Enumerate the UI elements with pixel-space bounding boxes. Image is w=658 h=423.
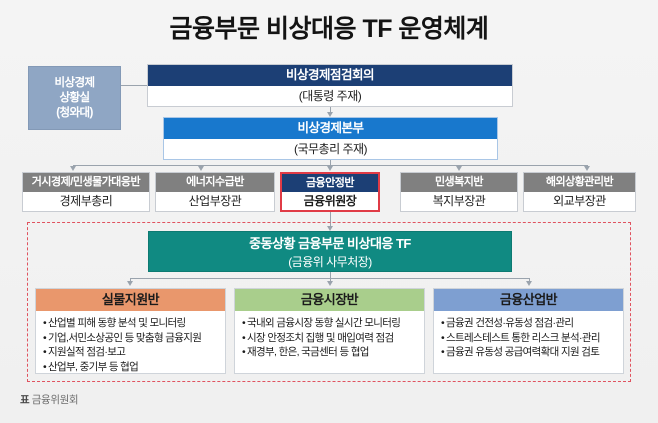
connector-situationroom-to-meeting	[121, 85, 147, 86]
node-division-energy-body: 산업부장관	[156, 192, 274, 211]
node-team-financial-industry-items: 금융권 건전성·유동성 점검·관리 스트레스테스트 통한 리스크 분석·관리 금…	[434, 311, 623, 364]
node-emergency-economy-hq: 비상경제본부 (국무총리 주재)	[163, 117, 498, 160]
source-caption-text: 금융위원회	[32, 394, 78, 406]
source-caption: 표 금융위원회	[20, 392, 320, 408]
node-middle-east-finance-tf-line2: (금융위 사무처장)	[149, 254, 511, 271]
node-team-real-economy-support-items: 산업별 피해 동향 분석 및 모니터링 기업,서민소상공인 등 맞춤형 금융지원…	[36, 311, 225, 378]
arrow-division-5-icon	[584, 166, 590, 171]
infographic-canvas: 금융부문 비상대응 TF 운영체계 비상경제 상황실 (청와대) 비상경제점검회…	[0, 0, 658, 423]
list-item: 기업,서민소상공인 등 맞춤형 금융지원	[43, 331, 220, 346]
node-division-overseas-header: 해외상황관리반	[524, 173, 635, 192]
node-division-macro-body: 경제부총리	[23, 192, 149, 211]
node-team-real-economy-support: 실물지원반 산업별 피해 동향 분석 및 모니터링 기업,서민소상공인 등 맞춤…	[35, 288, 226, 374]
node-division-macro: 거시경제/민생물가대응반 경제부총리	[22, 172, 150, 212]
list-item: 국내외 금융시장 동향 실시간 모니터링	[242, 316, 419, 331]
node-team-financial-market-items: 국내외 금융시장 동향 실시간 모니터링 시장 안정조치 집행 및 매입여력 점…	[235, 311, 424, 364]
list-item: 스트레스테스트 통한 리스크 분석·관리	[441, 331, 618, 346]
node-emergency-economy-meeting-body: (대통령 주재)	[148, 86, 512, 106]
node-team-real-economy-support-header: 실물지원반	[36, 289, 225, 311]
page-title: 금융부문 비상대응 TF 운영체계	[0, 8, 658, 50]
node-division-financial-stability-body: 금융위원장	[282, 192, 378, 210]
source-caption-label: 표	[20, 394, 29, 406]
node-division-overseas-body: 외교부장관	[524, 192, 635, 211]
list-item: 시장 안정조치 집행 및 매입여력 점검	[242, 331, 419, 346]
arrow-team-2-icon	[327, 281, 333, 286]
node-division-welfare-header: 민생복지반	[401, 173, 517, 192]
list-item: 산업별 피해 동향 분석 및 모니터링	[43, 316, 220, 331]
list-item: 산업부, 중기부 등 협업	[43, 360, 220, 375]
node-division-welfare-body: 복지부장관	[401, 192, 517, 211]
node-middle-east-finance-tf: 중동상황 금융부문 비상대응 TF (금융위 사무처장)	[148, 231, 512, 272]
node-team-financial-industry: 금융산업반 금융권 건전성·유동성 점검·관리 스트레스테스트 통한 리스크 분…	[433, 288, 624, 374]
arrow-division-2-icon	[198, 166, 204, 171]
node-division-welfare: 민생복지반 복지부장관	[400, 172, 518, 212]
node-team-financial-market-header: 금융시장반	[235, 289, 424, 311]
node-situation-room: 비상경제 상황실 (청와대)	[28, 66, 121, 130]
node-emergency-economy-meeting-header: 비상경제점검회의	[148, 65, 512, 86]
node-team-financial-market: 금융시장반 국내외 금융시장 동향 실시간 모니터링 시장 안정조치 집행 및 …	[234, 288, 425, 374]
arrow-division-4-icon	[456, 166, 462, 171]
node-middle-east-finance-tf-line1: 중동상황 금융부문 비상대응 TF	[149, 232, 511, 254]
arrow-division-3-icon	[327, 166, 333, 171]
node-division-overseas: 해외상황관리반 외교부장관	[523, 172, 636, 212]
situation-room-lines: 비상경제 상황실 (청와대)	[55, 76, 95, 121]
list-item: 지원실적 점검·보고	[43, 345, 220, 360]
arrow-division-1-icon	[70, 166, 76, 171]
node-division-energy-header: 에너지수급반	[156, 173, 274, 192]
situation-room-line-1: 비상경제	[55, 76, 95, 91]
list-item: 금융권 유동성 공급여력확대 지원 검토	[441, 345, 618, 360]
arrow-team-1-icon	[127, 281, 133, 286]
situation-room-line-3: (청와대)	[55, 106, 95, 121]
node-emergency-economy-hq-body: (국무총리 주재)	[164, 139, 497, 159]
node-emergency-economy-hq-header: 비상경제본부	[164, 118, 497, 139]
situation-room-line-2: 상황실	[55, 91, 95, 106]
node-division-financial-stability-header: 금융안정반	[282, 174, 378, 192]
node-division-financial-stability: 금융안정반 금융위원장	[280, 172, 380, 212]
node-team-financial-industry-header: 금융산업반	[434, 289, 623, 311]
node-emergency-economy-meeting: 비상경제점검회의 (대통령 주재)	[147, 64, 513, 107]
list-item: 금융권 건전성·유동성 점검·관리	[441, 316, 618, 331]
list-item: 재경부, 한은, 국금센터 등 협업	[242, 345, 419, 360]
node-division-energy: 에너지수급반 산업부장관	[155, 172, 275, 212]
node-division-macro-header: 거시경제/민생물가대응반	[23, 173, 149, 192]
arrow-team-3-icon	[526, 281, 532, 286]
